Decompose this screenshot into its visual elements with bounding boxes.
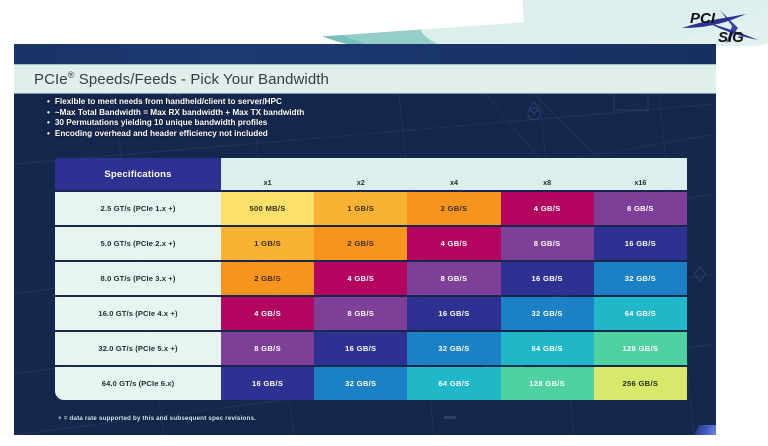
bandwidth-cell: 16 GB/S bbox=[501, 262, 594, 295]
bullet-list: Flexible to meet needs from handheld/cli… bbox=[47, 97, 477, 139]
bandwidth-table: Specifications x1 x2 x4 x8 x16 2.5 GT/s … bbox=[55, 156, 687, 402]
top-banner bbox=[0, 0, 768, 46]
screenshot-canvas: PCI SIG bbox=[0, 0, 768, 446]
bandwidth-cell: 1 GB/S bbox=[314, 192, 407, 225]
bullet-item: Flexible to meet needs from handheld/cli… bbox=[47, 97, 477, 108]
bullet-item: 30 Permutations yielding 10 unique bandw… bbox=[47, 118, 477, 129]
bandwidth-cell: 4 GB/S bbox=[407, 227, 500, 260]
table-row: 5.0 GT/s (PCIe 2.x +)1 GB/S2 GB/S4 GB/S8… bbox=[55, 227, 687, 260]
bandwidth-cell: 64 GB/S bbox=[407, 367, 500, 400]
bandwidth-cell: 16 GB/S bbox=[407, 297, 500, 330]
table-row: 2.5 GT/s (PCIe 1.x +)500 MB/S1 GB/S2 GB/… bbox=[55, 192, 687, 225]
footnote: + = data rate supported by this and subs… bbox=[58, 415, 256, 422]
presentation-slide: PCIe® Speeds/Feeds - Pick Your Bandwidth… bbox=[14, 44, 716, 435]
bandwidth-cell: 4 GB/S bbox=[314, 262, 407, 295]
bandwidth-cell: 16 GB/S bbox=[594, 227, 687, 260]
table-row: 32.0 GT/s (PCIe 5.x +)8 GB/S16 GB/S32 GB… bbox=[55, 332, 687, 365]
bandwidth-cell: 8 GB/S bbox=[594, 192, 687, 225]
bandwidth-cell: 8 GB/S bbox=[314, 297, 407, 330]
bandwidth-cell: 64 GB/S bbox=[501, 332, 594, 365]
slide-title-bar: PCIe® Speeds/Feeds - Pick Your Bandwidth bbox=[14, 64, 716, 94]
bandwidth-cell: 64 GB/S bbox=[594, 297, 687, 330]
corner-accent bbox=[680, 425, 716, 435]
logo-sig-text: SIG bbox=[718, 29, 744, 46]
table-row: 16.0 GT/s (PCIe 4.x +)4 GB/S8 GB/S16 GB/… bbox=[55, 297, 687, 330]
table-header-row: Specifications x1 x2 x4 x8 x16 bbox=[55, 158, 687, 190]
bandwidth-cell: 500 MB/S bbox=[221, 192, 314, 225]
bandwidth-cell: 8 GB/S bbox=[407, 262, 500, 295]
bandwidth-cell: 1 GB/S bbox=[221, 227, 314, 260]
bandwidth-cell: 16 GB/S bbox=[314, 332, 407, 365]
pci-sig-logo: PCI SIG bbox=[676, 4, 764, 48]
lane-header-x8: x8 bbox=[501, 158, 594, 190]
bandwidth-cell: 32 GB/S bbox=[594, 262, 687, 295]
spec-cell: 5.0 GT/s (PCIe 2.x +) bbox=[55, 227, 221, 260]
bandwidth-cell: 4 GB/S bbox=[501, 192, 594, 225]
bandwidth-cell: 256 GB/S bbox=[594, 367, 687, 400]
logo-pci-text: PCI bbox=[690, 10, 716, 27]
bandwidth-cell: 32 GB/S bbox=[501, 297, 594, 330]
bandwidth-cell: 2 GB/S bbox=[407, 192, 500, 225]
bandwidth-cell: 4 GB/S bbox=[221, 297, 314, 330]
table-body: 2.5 GT/s (PCIe 1.x +)500 MB/S1 GB/S2 GB/… bbox=[55, 192, 687, 400]
lane-header-x2: x2 bbox=[314, 158, 407, 190]
slide-top-strip bbox=[14, 44, 716, 65]
spec-cell: 64.0 GT/s (PCIe 6.x) bbox=[55, 367, 221, 400]
specifications-header: Specifications bbox=[55, 158, 221, 190]
bandwidth-cell: 2 GB/S bbox=[221, 262, 314, 295]
bandwidth-cell: 16 GB/S bbox=[221, 367, 314, 400]
lane-header-x16: x16 bbox=[594, 158, 687, 190]
title-rest: Speeds/Feeds - Pick Your Bandwidth bbox=[74, 71, 329, 88]
lane-header-x4: x4 bbox=[407, 158, 500, 190]
spec-cell: 8.0 GT/s (PCIe 3.x +) bbox=[55, 262, 221, 295]
bandwidth-cell: 8 GB/S bbox=[221, 332, 314, 365]
page-title: PCIe® Speeds/Feeds - Pick Your Bandwidth bbox=[14, 70, 329, 88]
bandwidth-cell: 8 GB/S bbox=[501, 227, 594, 260]
spec-cell: 16.0 GT/s (PCIe 4.x +) bbox=[55, 297, 221, 330]
table-row: 64.0 GT/s (PCIe 6.x)16 GB/S32 GB/S64 GB/… bbox=[55, 367, 687, 400]
bullet-item: ~Max Total Bandwidth = Max RX bandwidth … bbox=[47, 108, 477, 119]
bandwidth-cell: 128 GB/S bbox=[594, 332, 687, 365]
bandwidth-table-wrapper: Specifications x1 x2 x4 x8 x16 2.5 GT/s … bbox=[55, 156, 687, 402]
lane-header-x1: x1 bbox=[221, 158, 314, 190]
bullet-item: Encoding overhead and header efficiency … bbox=[47, 129, 477, 140]
spec-cell: 32.0 GT/s (PCIe 5.x +) bbox=[55, 332, 221, 365]
bandwidth-cell: 128 GB/S bbox=[501, 367, 594, 400]
spec-cell: 2.5 GT/s (PCIe 1.x +) bbox=[55, 192, 221, 225]
bandwidth-cell: 2 GB/S bbox=[314, 227, 407, 260]
table-row: 8.0 GT/s (PCIe 3.x +)2 GB/S4 GB/S8 GB/S1… bbox=[55, 262, 687, 295]
bandwidth-cell: 32 GB/S bbox=[314, 367, 407, 400]
title-main: PCIe bbox=[34, 71, 68, 88]
bandwidth-cell: 32 GB/S bbox=[407, 332, 500, 365]
